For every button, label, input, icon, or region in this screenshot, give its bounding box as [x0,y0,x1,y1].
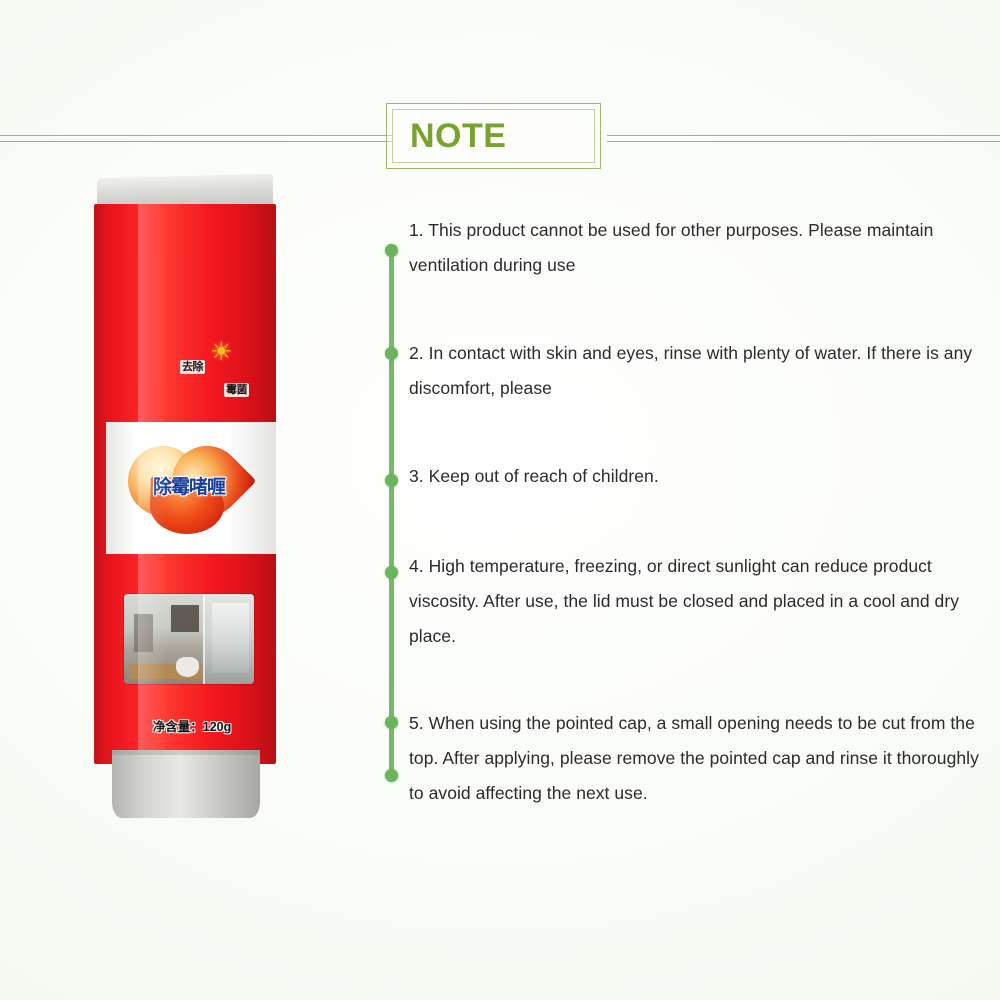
brand-mark: 去除 ☀ 霉菌 [180,340,260,398]
timeline-dot-6 [385,769,398,782]
product-name-cn: 除霉啫喱 [134,478,244,497]
note-heading-box: NOTE [386,103,601,169]
sun-icon: ☀ [210,340,232,365]
timeline-dot-3 [385,474,398,487]
notes-list: 1. This product cannot be used for other… [409,213,981,811]
heart-logo: 除霉啫喱 [118,436,258,540]
note-heading-inner-border: NOTE [392,109,595,163]
timeline-dot-1 [385,244,398,257]
note-item-3: 3. Keep out of reach of children. [409,459,981,494]
note-item-4: 4. High temperature, freezing, or direct… [409,549,981,654]
divider-line-right [607,135,1000,142]
brand-chip-bottom: 霉菌 [224,383,249,397]
product-tube-image: 去除 ☀ 霉菌 除霉啫喱 [80,176,276,816]
page-title: NOTE [410,119,506,153]
timeline-dot-2 [385,347,398,360]
bathroom-photo [124,594,254,684]
brand-chip-top: 去除 [180,360,205,374]
tube-body: 去除 ☀ 霉菌 除霉啫喱 [94,204,276,764]
photo-detail-b [171,605,200,632]
note-item-1: 1. This product cannot be used for other… [409,213,981,283]
note-item-5: 5. When using the pointed cap, a small o… [409,706,981,811]
tube-cap [112,750,260,818]
photo-shower-glass [212,603,248,673]
note-item-2: 2. In contact with skin and eyes, rinse … [409,336,981,406]
timeline-track [389,248,394,778]
spacer [409,406,981,459]
timeline-dot-5 [385,716,398,729]
photo-detail-a [134,614,152,652]
poster-canvas: NOTE 1. This product cannot be used for … [0,0,1000,1000]
divider-line-left [0,135,392,142]
net-weight-label: 净含量：120g [94,716,276,735]
spacer [409,494,981,549]
spacer [409,283,981,336]
photo-basin [176,657,199,677]
photo-divider [203,594,205,684]
spacer [409,654,981,706]
timeline-dot-4 [385,566,398,579]
